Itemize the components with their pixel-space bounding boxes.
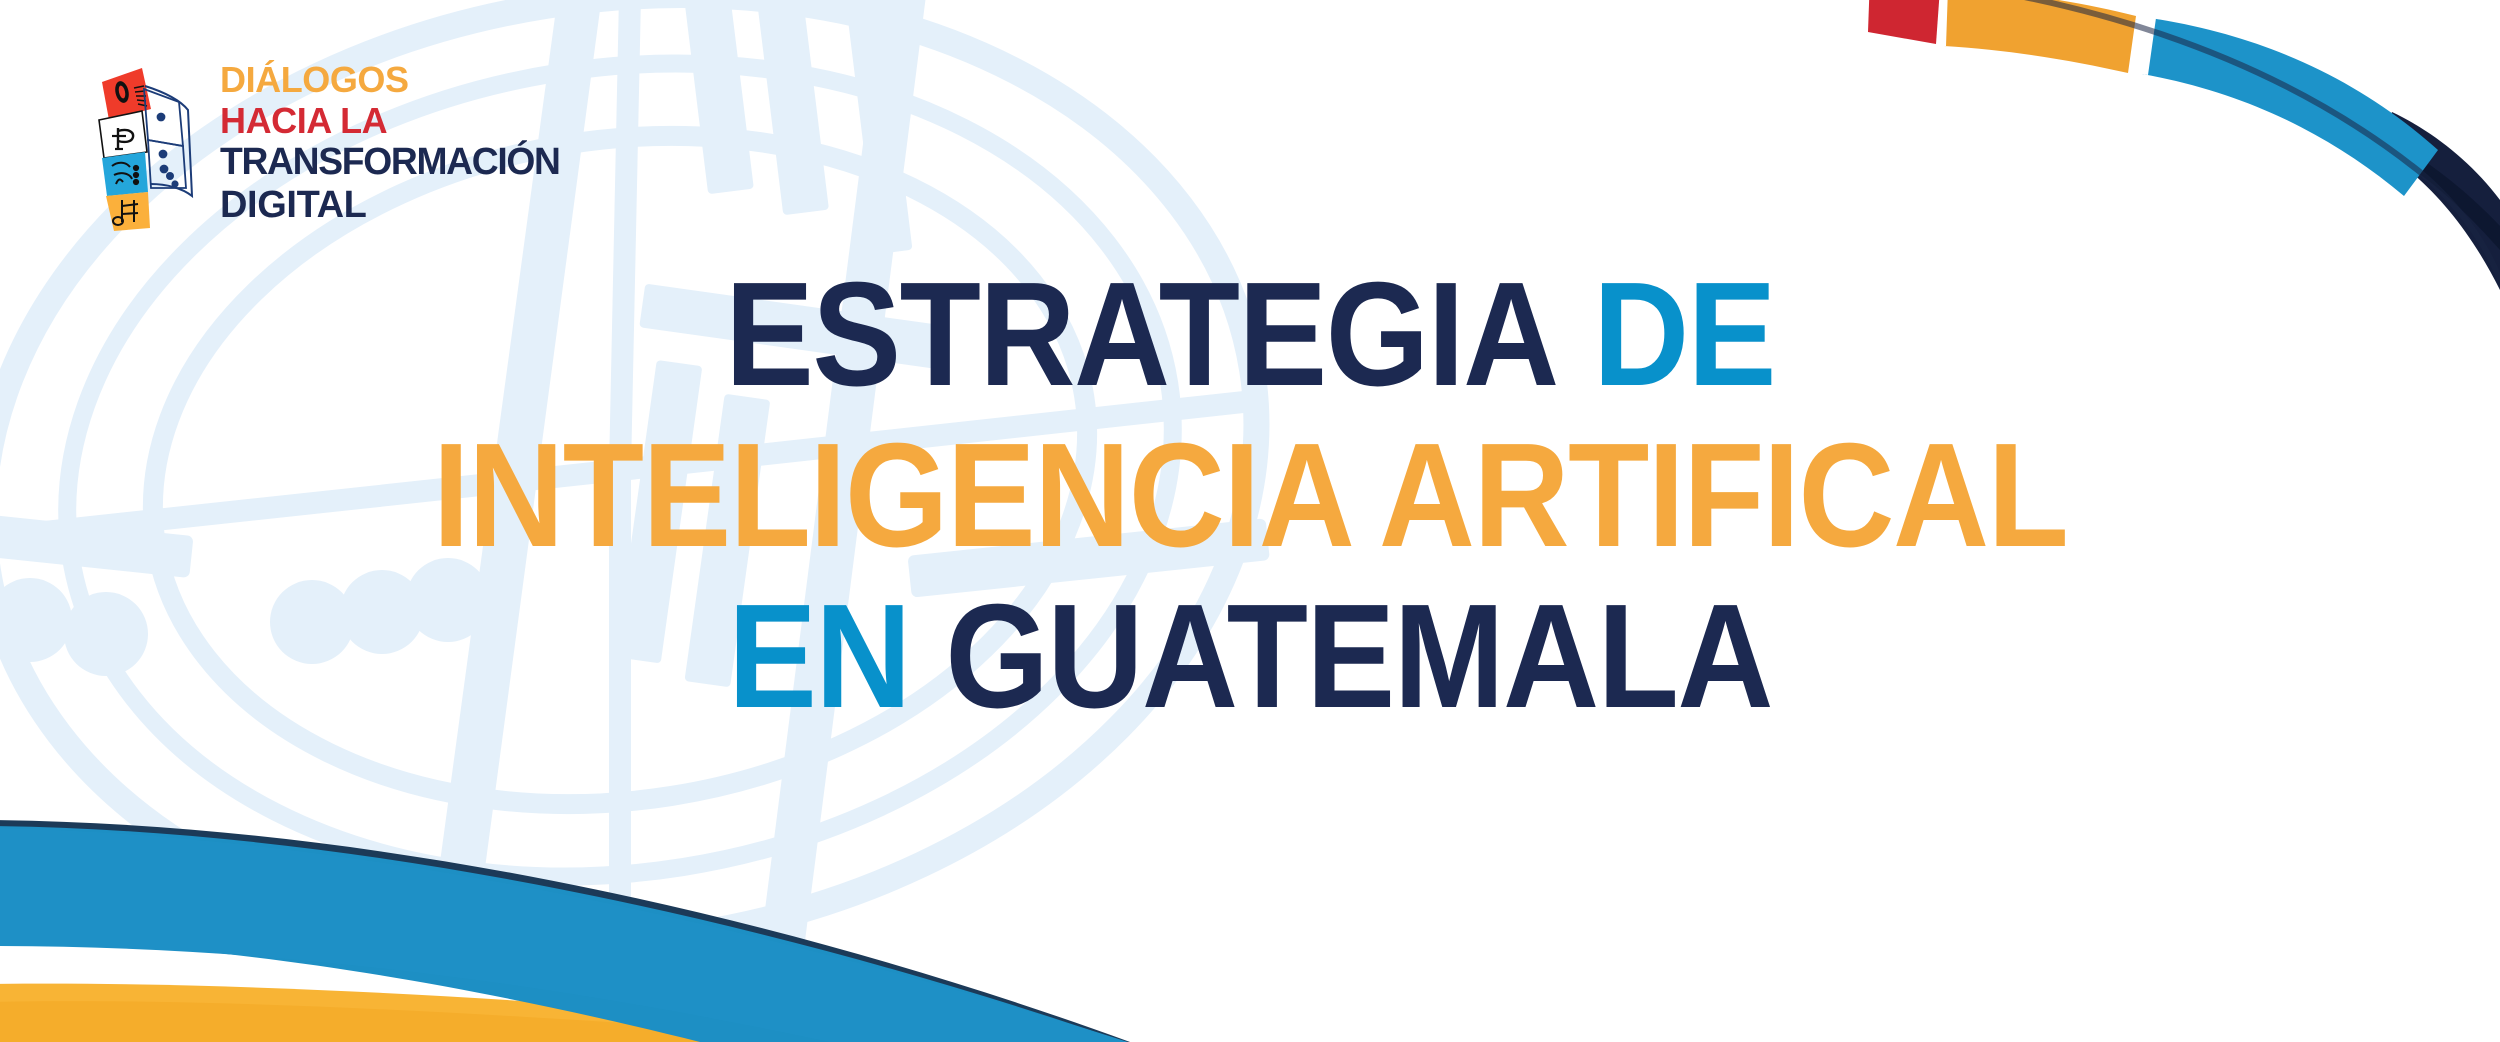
content-layer: DIÁLOGOS HACIA LA TRANSFORMACIÓN DIGITAL… <box>0 0 2500 1042</box>
mayan-glyph-fan-logo-icon <box>82 48 202 233</box>
brand-logo[interactable]: DIÁLOGOS HACIA LA TRANSFORMACIÓN DIGITAL <box>82 48 567 233</box>
logo-line-dialogos: DIÁLOGOS <box>220 59 567 100</box>
logo-tile-white-1 <box>99 111 147 158</box>
headline-word-de: DE <box>1593 252 1775 417</box>
logo-tile-blue <box>102 152 148 196</box>
brand-logo-wordmark: DIÁLOGOS HACIA LA TRANSFORMACIÓN DIGITAL <box>220 55 567 227</box>
logo-line-digital: DIGITAL <box>220 184 567 227</box>
page-title: ESTRATEGIA DE INTELIGENCIA ARTIFICAL EN … <box>0 262 2500 729</box>
headline-word-estrategia: ESTRATEGIA <box>725 252 1558 417</box>
headline-line-1: ESTRATEGIA DE <box>125 262 2375 407</box>
logo-tile-orange <box>106 192 150 231</box>
logo-line-hacia-la: HACIA LA <box>220 100 567 141</box>
headline-line-3: EN GUATEMALA <box>125 584 2375 729</box>
logo-line-transformacion: TRANSFORMACIÓN <box>220 141 560 184</box>
headline-word-guatemala: GUATEMALA <box>945 574 1772 739</box>
headline-line-2: INTELIGENCIA ARTIFICAL <box>125 423 2375 568</box>
banner-root: DIÁLOGOS HACIA LA TRANSFORMACIÓN DIGITAL… <box>0 0 2500 1042</box>
logo-tile-dots <box>157 113 179 188</box>
headline-word-en: EN <box>728 574 910 739</box>
